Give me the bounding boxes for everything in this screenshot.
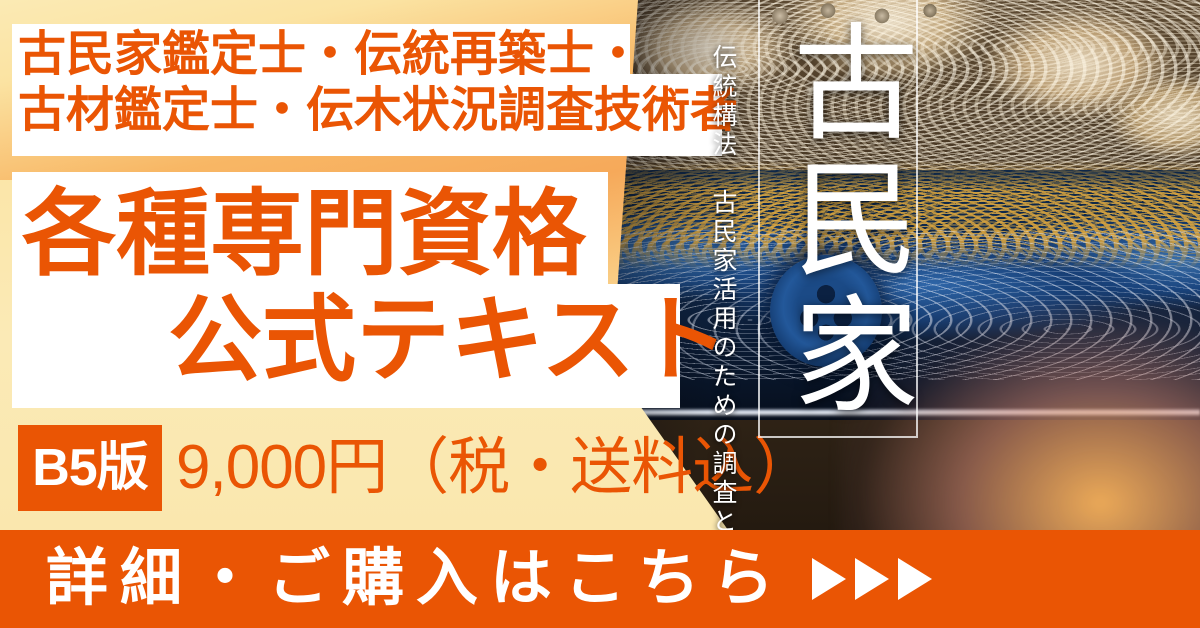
- cta-bar[interactable]: 詳細・ご購入はこちら: [0, 530, 1200, 628]
- headline-line-1: 古民家鑑定士・伝統再築士・: [18, 28, 642, 82]
- promo-banner: 古民家鑑定士・伝統再築士・ 古材鑑定士・伝木状況調査技術者 各種専門資格 公式テ…: [0, 0, 1200, 628]
- format-badge: B5版: [18, 425, 162, 511]
- headline-line-2: 古材鑑定士・伝木状況調査技術者: [18, 84, 738, 138]
- subhead-line-1: 各種専門資格: [22, 182, 586, 286]
- cta-arrow-group: [812, 558, 932, 600]
- triangle-right-icon: [898, 558, 932, 600]
- cta-label: 詳細・ご購入はこちら: [46, 548, 786, 610]
- subhead-line-2: 公式テキスト: [168, 288, 729, 392]
- cover-title-vertical: 古民家: [762, 6, 914, 436]
- format-badge-label: B5版: [32, 442, 147, 494]
- cover-subtitle-vertical: 伝統構法 古民家活用のための調査と再生の: [704, 44, 740, 584]
- triangle-right-icon: [812, 558, 846, 600]
- triangle-right-icon: [855, 558, 889, 600]
